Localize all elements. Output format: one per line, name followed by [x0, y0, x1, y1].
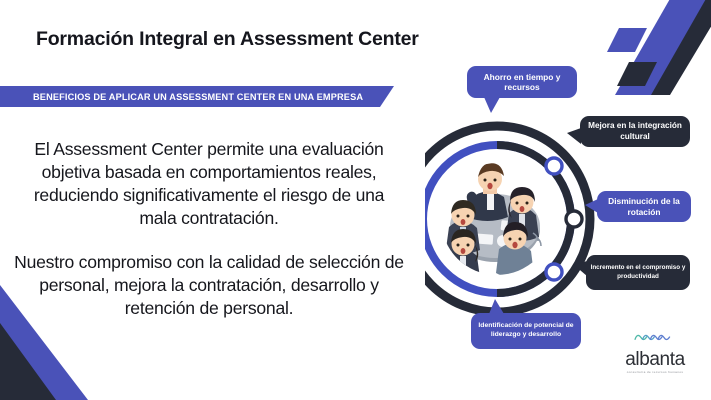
wave-mark-icon [632, 330, 678, 344]
callout-tail-icon [484, 97, 500, 113]
paragraph-1: El Assessment Center permite una evaluac… [14, 138, 404, 229]
callout-tail-icon [567, 128, 581, 144]
benefits-banner: BENEFICIOS DE APLICAR UN ASSESSMENT CENT… [0, 86, 394, 107]
callout-incremento-compromiso-productividad[interactable]: Incremento en el compromiso y productivi… [586, 255, 690, 290]
callout-tail-icon [489, 299, 504, 314]
logo-wordmark: albanta [612, 350, 698, 369]
banner-label: BENEFICIOS DE APLICAR UN ASSESSMENT CENT… [33, 92, 363, 102]
callout-tail-icon [585, 199, 598, 213]
callout-disminucion-rotacion[interactable]: Disminución de la rotación [597, 191, 691, 222]
callout-ahorro-tiempo-recursos[interactable]: Ahorro en tiempo y recursos [467, 66, 577, 98]
callout-label: Ahorro en tiempo y recursos [467, 72, 577, 93]
diagram-node-bottom [546, 264, 562, 280]
callout-mejora-integracion-cultural[interactable]: Mejora en la integración cultural [580, 116, 690, 147]
diagram-node-top [546, 158, 562, 174]
diagram-node-middle [566, 211, 582, 227]
meeting-illustration [441, 163, 553, 282]
corner-decoration-top-right [591, 0, 711, 105]
callout-label: Disminución de la rotación [597, 196, 691, 217]
callout-identificacion-potencial-liderazgo[interactable]: Identificación de potencial de liderazgo… [471, 313, 581, 349]
callout-label: Incremento en el compromiso y productivi… [586, 264, 690, 281]
logo-tagline: consultoría de recursos humanos [612, 370, 698, 374]
paragraph-2: Nuestro compromiso con la calidad de sel… [14, 251, 404, 320]
callout-tail-icon [574, 261, 587, 276]
callout-label: Identificación de potencial de liderazgo… [471, 322, 581, 340]
callout-label: Mejora en la integración cultural [580, 121, 690, 142]
brand-logo: albanta consultoría de recursos humanos [612, 330, 698, 372]
slide-canvas: Formación Integral en Assessment Center … [0, 0, 711, 400]
page-title: Formación Integral en Assessment Center [36, 28, 419, 51]
body-copy: El Assessment Center permite una evaluac… [14, 138, 404, 320]
